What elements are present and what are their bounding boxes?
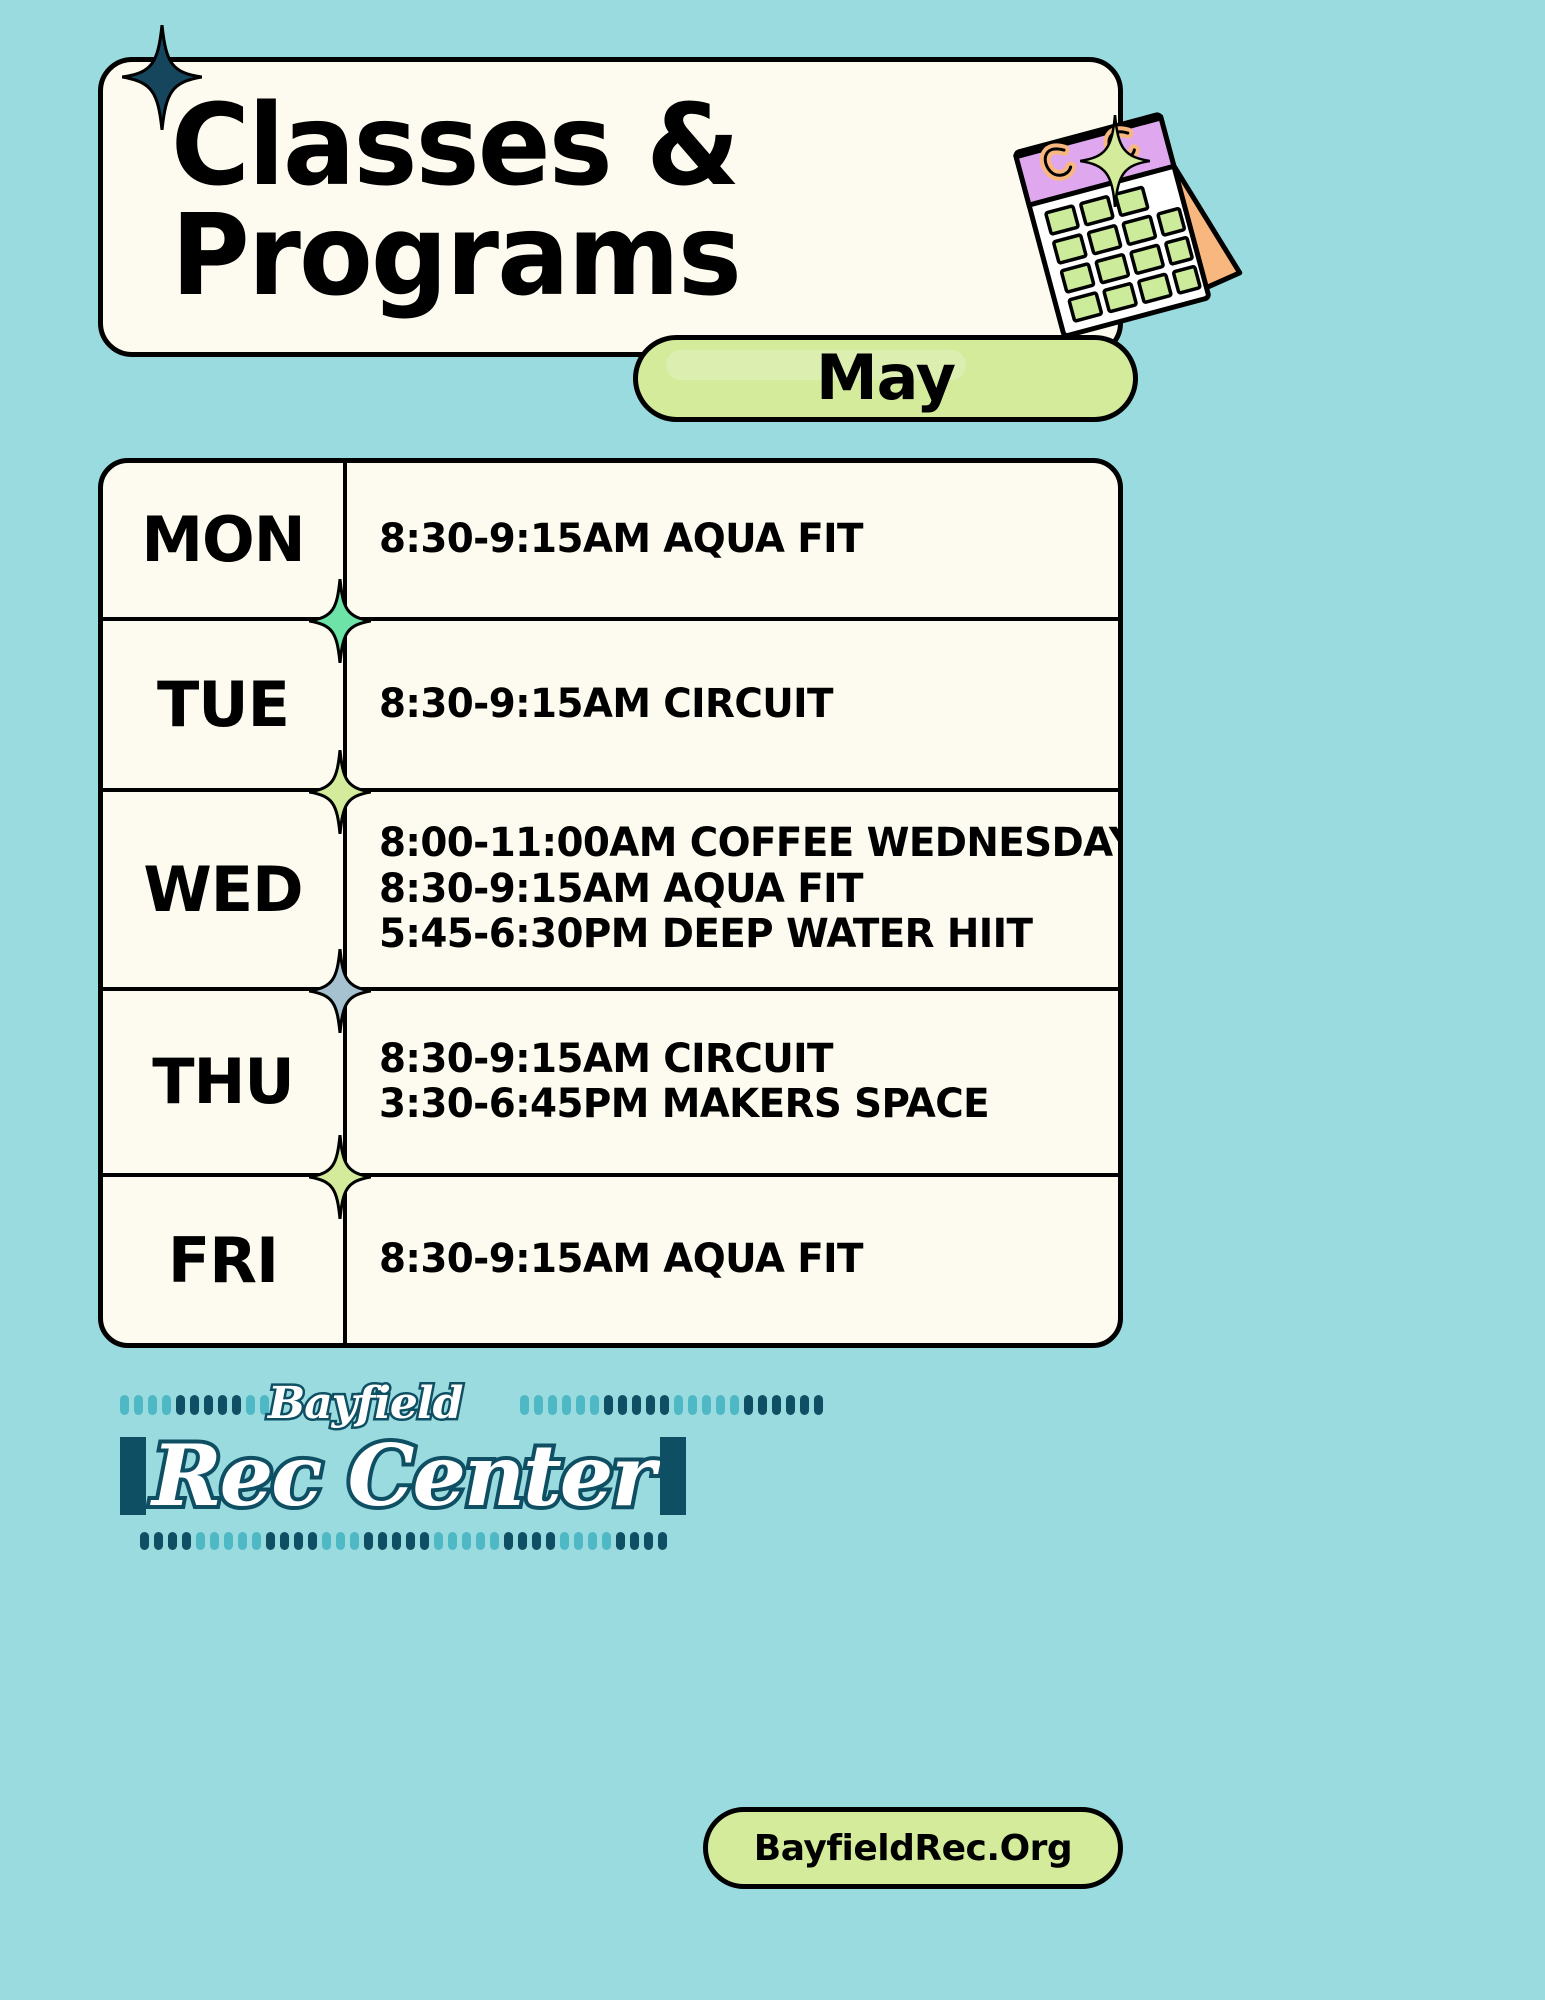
event-line: 8:30-9:15AM CIRCUIT — [379, 1037, 1080, 1082]
logo-dash — [590, 1395, 599, 1415]
logo-dash — [576, 1395, 585, 1415]
row-events: 8:00-11:00AM COFFEE WEDNESDAY8:30-9:15AM… — [347, 821, 1123, 957]
logo-dash — [232, 1395, 241, 1415]
logo-dash — [814, 1395, 823, 1415]
logo-dash — [786, 1395, 795, 1415]
logo-dash — [646, 1395, 655, 1415]
event-line: 8:30-9:15AM AQUA FIT — [379, 517, 1080, 562]
row-events: 8:30-9:15AM AQUA FIT — [347, 1237, 1118, 1282]
logo-dash — [462, 1532, 471, 1550]
logo-dash — [434, 1532, 443, 1550]
row-day-label: WED — [103, 853, 343, 926]
logo-dash — [336, 1532, 345, 1550]
table-row: WED8:00-11:00AM COFFEE WEDNESDAY8:30-9:1… — [103, 792, 1118, 991]
desk-calendar-icon — [1010, 85, 1270, 355]
dash-strip-bottom — [140, 1532, 667, 1550]
schedule-table: MON8:30-9:15AM AQUA FITTUE8:30-9:15AM CI… — [98, 458, 1123, 1348]
row-day-label: MON — [103, 503, 343, 576]
logo-dash — [406, 1532, 415, 1550]
logo-dash — [420, 1532, 429, 1550]
table-row: THU8:30-9:15AM CIRCUIT3:30-6:45PM MAKERS… — [103, 991, 1118, 1177]
logo-dash — [534, 1395, 543, 1415]
website-badge[interactable]: BayfieldRec.Org — [703, 1807, 1123, 1889]
logo-dash — [140, 1532, 149, 1550]
logo-dash — [632, 1395, 641, 1415]
logo-dash — [182, 1532, 191, 1550]
event-line: 8:30-9:15AM AQUA FIT — [379, 1237, 1080, 1282]
logo-dash — [162, 1395, 171, 1415]
logo-dash — [322, 1532, 331, 1550]
logo-dash — [644, 1532, 653, 1550]
logo-dash — [266, 1532, 275, 1550]
logo-dash — [604, 1395, 613, 1415]
logo-dash — [520, 1395, 529, 1415]
logo-dash — [560, 1532, 569, 1550]
logo-dash — [546, 1532, 555, 1550]
page-title: Classes & Programs — [171, 92, 740, 312]
logo-dash — [532, 1532, 541, 1550]
logo-bottom-row: Rec Center — [120, 1426, 700, 1526]
logo-dash — [758, 1395, 767, 1415]
table-row: FRI8:30-9:15AM AQUA FIT — [103, 1177, 1118, 1343]
logo-dash — [504, 1532, 513, 1550]
logo-dash — [176, 1395, 185, 1415]
logo-dash — [210, 1532, 219, 1550]
logo-bracket-left-icon — [120, 1437, 146, 1515]
logo-dash — [280, 1532, 289, 1550]
logo-dash — [196, 1532, 205, 1550]
logo-dash — [120, 1395, 129, 1415]
logo-dash — [308, 1532, 317, 1550]
logo-dash — [218, 1395, 227, 1415]
month-label: May — [638, 341, 1133, 414]
row-events: 8:30-9:15AM CIRCUIT3:30-6:45PM MAKERS SP… — [347, 1037, 1118, 1127]
logo-dash — [688, 1395, 697, 1415]
logo-dash — [364, 1532, 373, 1550]
dash-strip-left — [120, 1395, 283, 1415]
logo-dash — [800, 1395, 809, 1415]
logo-dash — [616, 1532, 625, 1550]
table-row: TUE8:30-9:15AM CIRCUIT — [103, 621, 1118, 792]
logo-dash — [618, 1395, 627, 1415]
logo-dash — [548, 1395, 557, 1415]
logo-dash — [246, 1395, 255, 1415]
logo-rec-center-text: Rec Center — [152, 1434, 654, 1518]
poster-canvas: Classes & Programs — [0, 0, 1545, 2000]
logo-dash — [190, 1395, 199, 1415]
logo-dash — [252, 1532, 261, 1550]
logo-dash — [476, 1532, 485, 1550]
logo-dash — [674, 1395, 683, 1415]
row-day-label: FRI — [103, 1224, 343, 1297]
row-events: 8:30-9:15AM AQUA FIT — [347, 517, 1118, 562]
logo-dash — [294, 1532, 303, 1550]
logo-dash — [448, 1532, 457, 1550]
logo-dash — [630, 1532, 639, 1550]
event-line: 8:30-9:15AM CIRCUIT — [379, 682, 1080, 727]
schedule-rows: MON8:30-9:15AM AQUA FITTUE8:30-9:15AM CI… — [103, 463, 1118, 1343]
row-events: 8:30-9:15AM CIRCUIT — [347, 682, 1118, 727]
table-row: MON8:30-9:15AM AQUA FIT — [103, 463, 1118, 621]
website-url-text: BayfieldRec.Org — [754, 1828, 1072, 1869]
logo-dash — [392, 1532, 401, 1550]
logo-bayfield-text: Bayfield — [268, 1378, 462, 1429]
logo-dash — [658, 1532, 667, 1550]
logo-dash — [148, 1395, 157, 1415]
logo-dash — [574, 1532, 583, 1550]
logo-dash — [490, 1532, 499, 1550]
logo-dash — [238, 1532, 247, 1550]
dash-strip-right — [520, 1395, 823, 1415]
row-day-label: THU — [103, 1045, 343, 1118]
logo-dash — [730, 1395, 739, 1415]
logo-dash — [588, 1532, 597, 1550]
logo-dash — [562, 1395, 571, 1415]
logo-dash — [154, 1532, 163, 1550]
logo-dash — [168, 1532, 177, 1550]
logo-bracket-right-icon — [660, 1437, 686, 1515]
logo-dash — [350, 1532, 359, 1550]
header-card: Classes & Programs — [98, 57, 1123, 357]
logo-dash — [378, 1532, 387, 1550]
logo-dash — [716, 1395, 725, 1415]
logo-dash — [744, 1395, 753, 1415]
logo-dash — [224, 1532, 233, 1550]
event-line: 3:30-6:45PM MAKERS SPACE — [379, 1082, 1080, 1127]
event-line: 5:45-6:30PM DEEP WATER HIIT — [379, 912, 1123, 957]
event-line: 8:00-11:00AM COFFEE WEDNESDAY — [379, 821, 1123, 866]
month-badge: May — [633, 335, 1138, 422]
logo-top-row: Bayfield — [120, 1382, 700, 1428]
logo-dash — [134, 1395, 143, 1415]
logo-dash — [702, 1395, 711, 1415]
logo-dash — [518, 1532, 527, 1550]
logo-dash — [660, 1395, 669, 1415]
logo-dash — [602, 1532, 611, 1550]
logo-dash — [204, 1395, 213, 1415]
logo-dash — [772, 1395, 781, 1415]
row-day-label: TUE — [103, 668, 343, 741]
bayfield-rec-center-logo: Bayfield Rec Center — [120, 1382, 700, 1557]
event-line: 8:30-9:15AM AQUA FIT — [379, 867, 1123, 912]
